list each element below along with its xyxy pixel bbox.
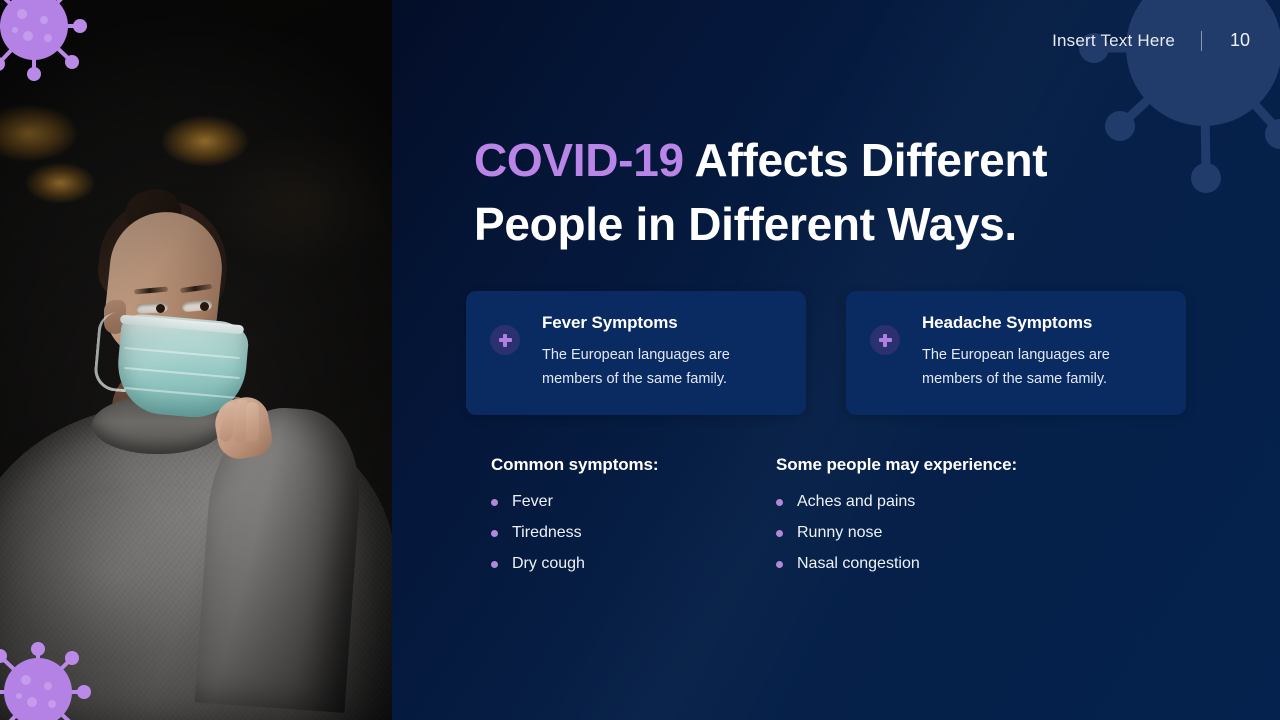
list-item: Dry cough <box>491 555 776 573</box>
slide-photo <box>0 0 392 720</box>
medical-plus-icon <box>870 325 900 355</box>
list-item-label: Nasal congestion <box>797 555 920 573</box>
title-line-1-rest: Affects Different <box>684 134 1048 186</box>
card-description: The European languages are members of th… <box>922 343 1152 391</box>
card-title: Headache Symptoms <box>922 313 1152 333</box>
title-accent-word: COVID-19 <box>474 134 684 186</box>
title-line-2: People in Different Ways. <box>474 192 1214 256</box>
symptom-cards-row: Fever Symptoms The European languages ar… <box>466 291 1186 415</box>
list-item: Aches and pains <box>776 493 1061 511</box>
photo-vignette <box>0 0 392 720</box>
page-number: 10 <box>1228 30 1250 51</box>
bullet-dot-icon <box>491 499 498 506</box>
list-item: Tiredness <box>491 524 776 542</box>
card-title: Fever Symptoms <box>542 313 772 333</box>
list-item: Fever <box>491 493 776 511</box>
list-common-symptoms: Common symptoms: Fever Tiredness Dry cou… <box>491 455 776 586</box>
slide-header: Insert Text Here 10 <box>1052 30 1250 51</box>
list-item-label: Aches and pains <box>797 493 915 511</box>
virus-top-left-icon <box>0 0 92 88</box>
bullet-dot-icon <box>776 530 783 537</box>
header-label[interactable]: Insert Text Here <box>1052 31 1175 51</box>
bullet-dot-icon <box>776 499 783 506</box>
slide-title: COVID-19 Affects Different People in Dif… <box>474 128 1214 256</box>
plus-glyph <box>499 334 512 347</box>
bullet-dot-icon <box>491 530 498 537</box>
plus-glyph <box>879 334 892 347</box>
symptom-card-headache[interactable]: Headache Symptoms The European languages… <box>846 291 1186 415</box>
list-item-label: Tiredness <box>512 524 582 542</box>
medical-plus-icon <box>490 325 520 355</box>
card-body: Fever Symptoms The European languages ar… <box>542 313 772 391</box>
card-description: The European languages are members of th… <box>542 343 772 391</box>
list-item: Runny nose <box>776 524 1061 542</box>
list-some-people-experience: Some people may experience: Aches and pa… <box>776 455 1061 586</box>
presentation-slide: Insert Text Here 10 COVID-19 Affects Dif… <box>0 0 1280 720</box>
list-item: Nasal congestion <box>776 555 1061 573</box>
list-item-label: Dry cough <box>512 555 585 573</box>
card-body: Headache Symptoms The European languages… <box>922 313 1152 391</box>
virus-bottom-left-icon <box>0 636 96 720</box>
bullet-dot-icon <box>491 561 498 568</box>
bullet-dot-icon <box>776 561 783 568</box>
header-divider <box>1201 31 1202 51</box>
symptom-lists-row: Common symptoms: Fever Tiredness Dry cou… <box>491 455 1061 586</box>
list-heading: Common symptoms: <box>491 455 776 475</box>
symptom-card-fever[interactable]: Fever Symptoms The European languages ar… <box>466 291 806 415</box>
list-item-label: Runny nose <box>797 524 882 542</box>
list-item-label: Fever <box>512 493 553 511</box>
slide-content: Insert Text Here 10 COVID-19 Affects Dif… <box>392 0 1280 720</box>
title-line-1: COVID-19 Affects Different <box>474 128 1214 192</box>
list-heading: Some people may experience: <box>776 455 1061 475</box>
